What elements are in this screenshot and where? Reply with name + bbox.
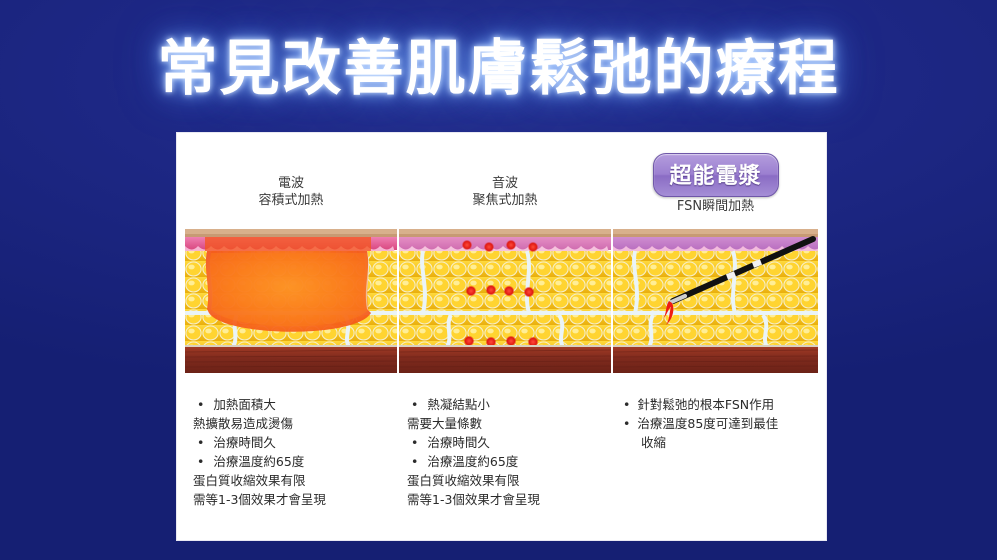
bullet-list-plasma: 針對鬆弛的根本FSN作用 治療溫度85度可達到最佳 收縮 (613, 395, 824, 452)
bullet-item: 需要大量條數 (407, 414, 619, 433)
content-panel: 電波 容積式加熱 (177, 133, 826, 540)
skin-diagram-needle (613, 229, 818, 381)
column-heading-line1: FSN瞬間加熱 (613, 198, 818, 215)
column-heading-line1: 音波 (399, 175, 611, 192)
skin-cross-section-svg (613, 229, 818, 381)
bullet-list-radiofrequency: 加熱面積大 熱擴散易造成燙傷 治療時間久 治療溫度約65度 蛋白質收縮效果有限 … (185, 395, 405, 509)
page-title: 常見改善肌膚鬆弛的療程 (0, 38, 997, 101)
column-ultrasound: 音波 聚焦式加熱 (399, 133, 611, 540)
bullet-item: 加熱面積大 (193, 395, 405, 414)
bullet-item: 治療溫度約65度 (193, 452, 405, 471)
skin-cross-section-svg (399, 229, 611, 381)
bullet-item: 熱凝結點小 (407, 395, 619, 414)
bullet-item: 收縮 (619, 433, 824, 452)
column-heading-line2: 聚焦式加熱 (399, 192, 611, 209)
column-heading-line1: 電波 (185, 175, 397, 192)
bullet-list-ultrasound: 熱凝結點小 需要大量條數 治療時間久 治療溫度約65度 蛋白質收縮效果有限 需等… (399, 395, 619, 509)
bullet-item: 需等1-3個效果才會呈現 (193, 490, 405, 509)
bullet-item: 治療溫度85度可達到最佳 (619, 414, 824, 433)
bullet-item: 針對鬆弛的根本FSN作用 (619, 395, 824, 414)
column-heading: FSN瞬間加熱 (613, 198, 818, 215)
column-radiofrequency: 電波 容積式加熱 (185, 133, 397, 540)
slide-root: 常見改善肌膚鬆弛的療程 電波 容積式加熱 (0, 0, 997, 560)
bullet-item: 治療時間久 (407, 433, 619, 452)
bullet-item: 蛋白質收縮效果有限 (407, 471, 619, 490)
column-heading: 音波 聚焦式加熱 (399, 175, 611, 209)
bullet-item: 治療溫度約65度 (407, 452, 619, 471)
column-heading-line2: 容積式加熱 (185, 192, 397, 209)
bullet-item: 蛋白質收縮效果有限 (193, 471, 405, 490)
bullet-item: 治療時間久 (193, 433, 405, 452)
skin-diagram-bulk-heating (185, 229, 397, 381)
bullet-item: 需等1-3個效果才會呈現 (407, 490, 619, 509)
skin-cross-section-svg (185, 229, 397, 381)
bullet-item: 熱擴散易造成燙傷 (193, 414, 405, 433)
column-plasma: 超能電漿 FSN瞬間加熱 (613, 133, 818, 540)
plasma-badge: 超能電漿 (652, 153, 778, 197)
skin-diagram-focused-points (399, 229, 611, 381)
column-heading: 電波 容積式加熱 (185, 175, 397, 209)
